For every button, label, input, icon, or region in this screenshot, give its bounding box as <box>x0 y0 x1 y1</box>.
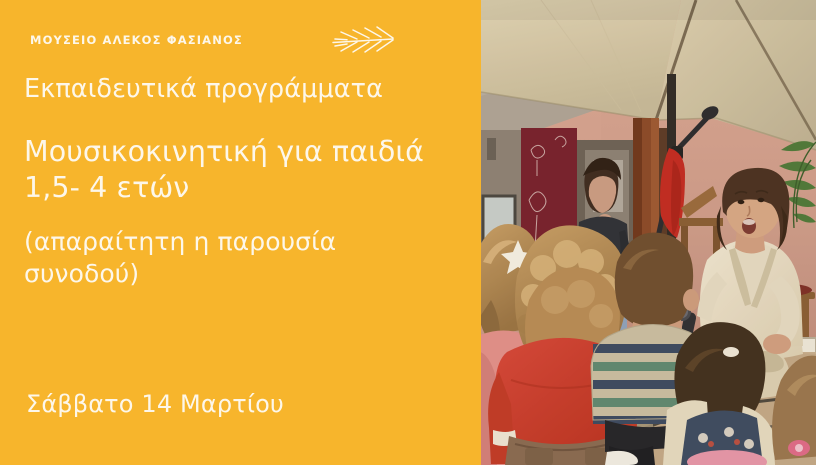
program-headline: Μουσικοκινητική για παιδιά 1,5- 4 ετών <box>24 134 455 206</box>
workshop-photo <box>481 0 816 465</box>
brand-logo <box>331 23 453 57</box>
promo-poster: ΜΟΥΣΕΙΟ ΑΛΕΚΟΣ ΦΑΣΙΑΝΟΣ <box>0 0 816 465</box>
text-panel: ΜΟΥΣΕΙΟ ΑΛΕΚΟΣ ΦΑΣΙΑΝΟΣ <box>0 0 481 465</box>
program-date: Σάββατο 14 Μαρτίου <box>26 390 284 419</box>
program-note: (απαραίτητη η παρουσία συνοδού) <box>24 226 455 290</box>
workshop-photo-illustration <box>481 0 816 465</box>
arrow-feather-icon <box>331 23 401 57</box>
copy-block: Εκπαιδευτικά προγράμματα Μουσικοκινητική… <box>24 74 455 290</box>
brand-bar: ΜΟΥΣΕΙΟ ΑΛΕΚΟΣ ΦΑΣΙΑΝΟΣ <box>30 28 453 52</box>
museum-brand-name: ΜΟΥΣΕΙΟ ΑΛΕΚΟΣ ΦΑΣΙΑΝΟΣ <box>30 33 243 47</box>
program-kicker: Εκπαιδευτικά προγράμματα <box>24 74 455 104</box>
